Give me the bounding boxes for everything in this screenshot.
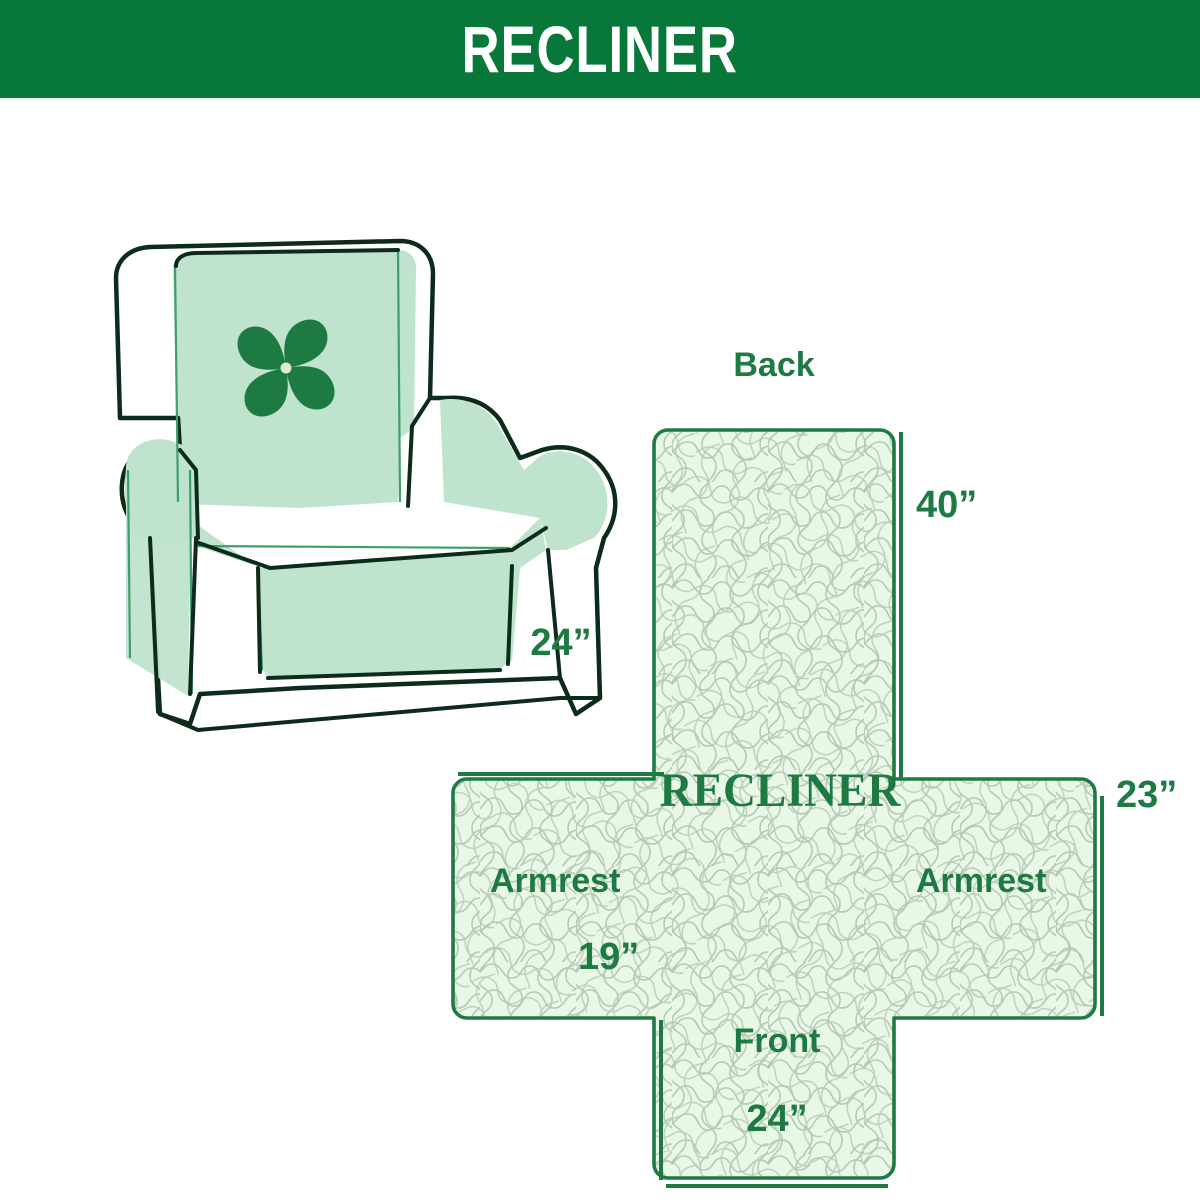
dimension-label-center-height: 23” xyxy=(1116,774,1177,817)
page-title: RECLINER xyxy=(462,16,738,82)
panel-label-armrest-right: Armrest xyxy=(916,862,1046,901)
diagram-canvas: Back Armrest Armrest Front RECLINER 40” … xyxy=(0,98,1200,1200)
dimension-label-front-width: 24” xyxy=(668,1098,886,1141)
panel-label-armrest-left: Armrest xyxy=(490,862,620,901)
dimension-label-armrest-width: 24” xyxy=(460,622,662,665)
header-banner: RECLINER xyxy=(0,0,1200,98)
dimension-label-back-height: 40” xyxy=(916,484,977,527)
pattern-center-label: RECLINER xyxy=(647,763,913,818)
panel-label-back: Back xyxy=(668,346,880,385)
diagram-label-layer: Back Armrest Armrest Front RECLINER 40” … xyxy=(0,98,1200,1200)
panel-label-front: Front xyxy=(668,1022,886,1061)
dimension-label-front-height: 19” xyxy=(578,936,639,979)
